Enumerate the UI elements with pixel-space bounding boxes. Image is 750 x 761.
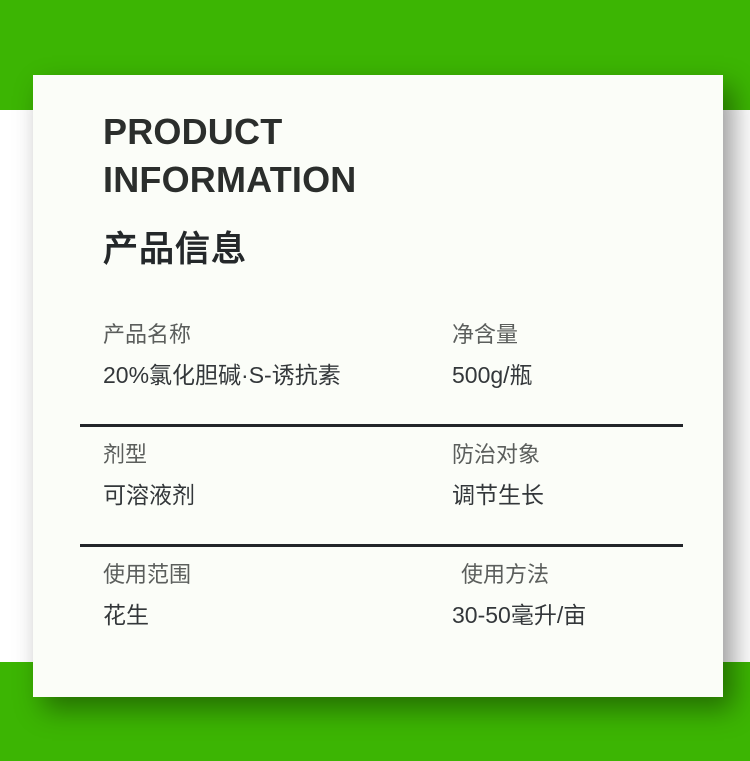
spec-label: 防治对象 — [452, 435, 544, 475]
spec-row: 使用范围 花生 使用方法 30-50毫升/亩 — [33, 547, 723, 657]
spec-table: 产品名称 20%氯化胆碱·S-诱抗素 净含量 500g/瓶 剂型 可溶液剂 防治… — [33, 307, 723, 657]
spec-label: 净含量 — [452, 315, 533, 355]
spec-cell-usage-method: 使用方法 30-50毫升/亩 — [452, 555, 586, 635]
spec-value: 花生 — [103, 595, 191, 635]
product-info-card: PRODUCT INFORMATION 产品信息 产品名称 20%氯化胆碱·S-… — [33, 75, 723, 697]
spec-label: 剂型 — [103, 435, 195, 475]
spec-cell-usage-scope: 使用范围 花生 — [103, 555, 191, 635]
spec-cell-product-name: 产品名称 20%氯化胆碱·S-诱抗素 — [103, 315, 341, 395]
spec-value: 20%氯化胆碱·S-诱抗素 — [103, 355, 341, 395]
spec-label: 使用方法 — [452, 555, 586, 595]
spec-value: 30-50毫升/亩 — [452, 595, 586, 635]
spec-value: 可溶液剂 — [103, 475, 195, 515]
spec-cell-formulation: 剂型 可溶液剂 — [103, 435, 195, 515]
spec-value: 调节生长 — [452, 475, 544, 515]
page-title-chinese: 产品信息 — [103, 228, 247, 272]
page-title-english-line1: PRODUCT — [103, 108, 523, 156]
spec-label: 产品名称 — [103, 315, 341, 355]
page-title-english-line2: INFORMATION — [103, 156, 523, 204]
spec-row: 剂型 可溶液剂 防治对象 调节生长 — [33, 427, 723, 547]
page-title-english: PRODUCT INFORMATION — [103, 108, 523, 204]
spec-value: 500g/瓶 — [452, 355, 533, 395]
spec-row: 产品名称 20%氯化胆碱·S-诱抗素 净含量 500g/瓶 — [33, 307, 723, 427]
spec-cell-net-content: 净含量 500g/瓶 — [452, 315, 533, 395]
product-information-page: PRODUCT INFORMATION 产品信息 产品名称 20%氯化胆碱·S-… — [0, 0, 750, 761]
spec-label: 使用范围 — [103, 555, 191, 595]
spec-cell-target: 防治对象 调节生长 — [452, 435, 544, 515]
